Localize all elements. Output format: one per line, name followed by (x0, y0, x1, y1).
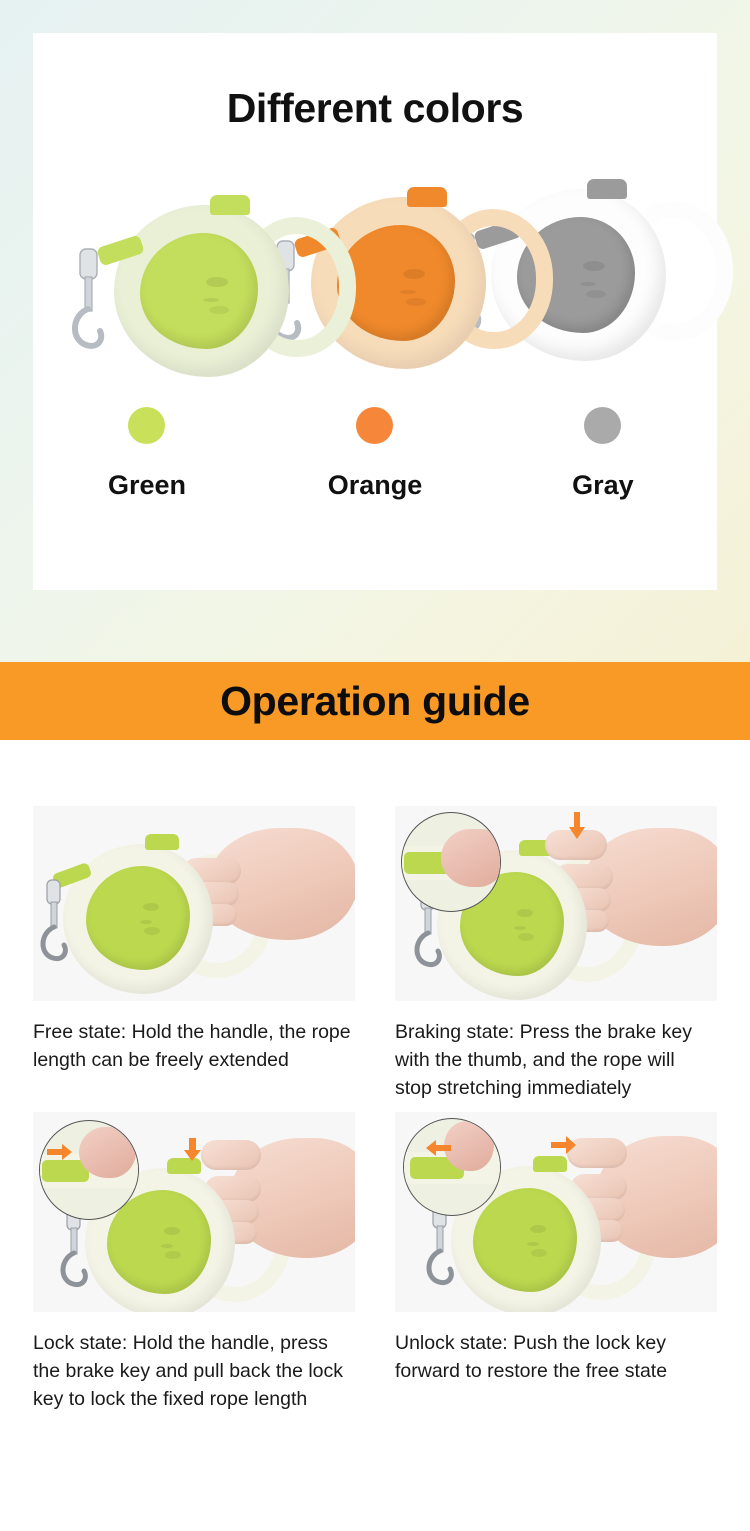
page-title: Different colors (33, 85, 717, 132)
operation-steps-grid: Free state: Hold the handle, the rope le… (33, 806, 717, 1413)
product-listing-page: Different colors (0, 0, 750, 1531)
color-swatch-row: Green Orange Gray (33, 407, 717, 537)
step-caption-lock-state: Lock state: Hold the handle, press the b… (33, 1329, 355, 1413)
color-option-green[interactable]: Green (33, 407, 261, 501)
step-caption-braking-state: Braking state: Press the brake key with … (395, 1018, 717, 1102)
leash-clip-icon (35, 878, 75, 964)
zoom-callout-lock-key (403, 1118, 501, 1216)
leash-faceplate (140, 233, 258, 349)
step-caption-unlock-state: Unlock state: Push the lock key forward … (395, 1329, 717, 1385)
leash-brake-key (407, 187, 447, 207)
color-option-gray[interactable]: Gray (489, 407, 717, 501)
operation-step-free-state: Free state: Hold the handle, the rope le… (33, 806, 355, 1102)
leash-faceplate (473, 1188, 577, 1292)
leash-lock-key (533, 1156, 567, 1172)
product-color-lineup (33, 173, 717, 388)
swatch-label-gray: Gray (489, 470, 717, 501)
arrow-right-icon (47, 1142, 73, 1162)
arrow-down-icon (183, 1138, 203, 1162)
step-photo-braking-state (395, 806, 717, 1001)
swatch-dot-orange (356, 407, 393, 444)
zoom-callout-lock-key (39, 1120, 139, 1220)
step-photo-lock-state (33, 1112, 355, 1312)
color-option-orange[interactable]: Orange (261, 407, 489, 501)
swatch-dot-gray (584, 407, 621, 444)
thumb (201, 1140, 261, 1170)
leash-brake-key (210, 195, 250, 215)
colors-card: Different colors (33, 33, 717, 590)
step-caption-free-state: Free state: Hold the handle, the rope le… (33, 1018, 355, 1074)
operation-step-unlock-state: Unlock state: Push the lock key forward … (395, 1112, 717, 1413)
zoom-callout-brake-key (401, 812, 501, 912)
leash-brake-key (145, 834, 179, 850)
swatch-label-orange: Orange (261, 470, 489, 501)
operation-step-lock-state: Lock state: Hold the handle, press the b… (33, 1112, 355, 1413)
swatch-dot-green (128, 407, 165, 444)
banner-title: Operation guide (220, 678, 530, 725)
different-colors-section: Different colors (0, 0, 750, 662)
step-photo-unlock-state (395, 1112, 717, 1312)
operation-guide-section: Free state: Hold the handle, the rope le… (0, 740, 750, 1531)
arrow-down-icon (567, 812, 587, 840)
arrow-left-icon (425, 1138, 451, 1158)
product-leash-green (88, 195, 358, 390)
operation-step-braking-state: Braking state: Press the brake key with … (395, 806, 717, 1102)
step-photo-free-state (33, 806, 355, 1001)
leash-clip-icon (66, 247, 112, 352)
leash-faceplate (86, 866, 190, 970)
swatch-label-green: Green (33, 470, 261, 501)
operation-guide-banner: Operation guide (0, 662, 750, 740)
leash-brake-key (587, 179, 627, 199)
arrow-right-icon (551, 1134, 577, 1156)
